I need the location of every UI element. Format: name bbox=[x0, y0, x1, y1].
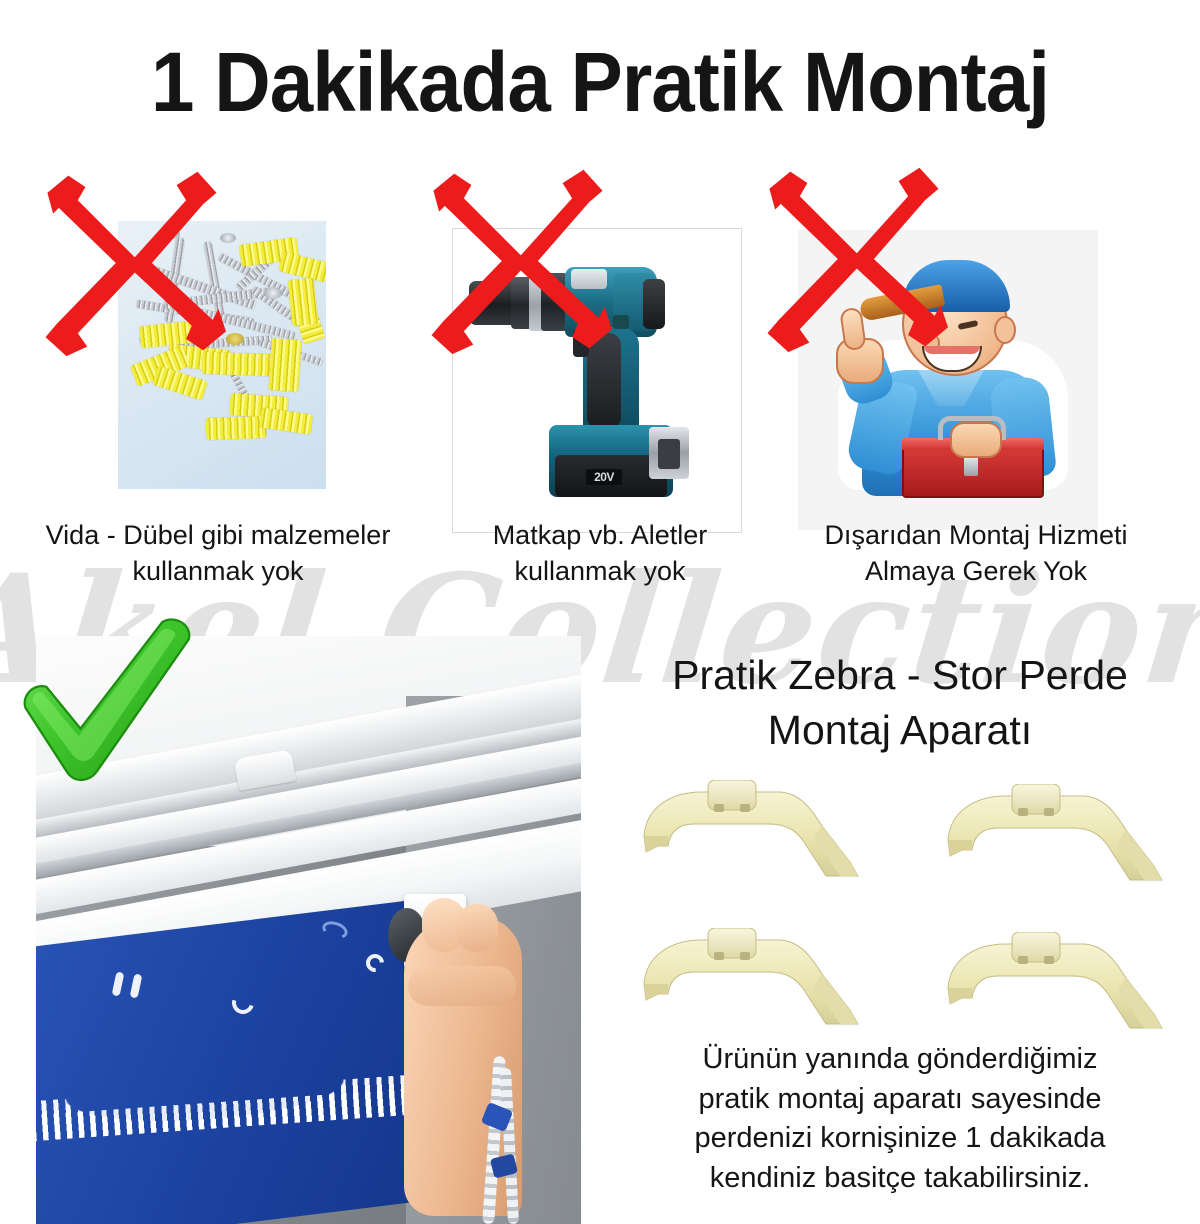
red-x-icon bbox=[36, 168, 226, 358]
red-x-icon bbox=[758, 164, 948, 354]
description-line-1: Ürünün yanında gönderdiğimiz bbox=[703, 1043, 1098, 1075]
page-title: 1 Dakikada Pratik Montaj bbox=[42, 38, 1158, 126]
description-line-4: kendiniz basitçe takabilirsiniz. bbox=[710, 1162, 1090, 1194]
green-check-icon bbox=[14, 618, 204, 786]
description-line-2: pratik montaj aparatı sayesinde bbox=[699, 1083, 1102, 1115]
caption-installer-service: Dışarıdan Montaj Hizmeti Almaya Gerek Yo… bbox=[770, 518, 1182, 589]
caption-line-1: Vida - Dübel gibi malzemeler bbox=[46, 520, 391, 550]
mounting-clip-1 bbox=[636, 780, 866, 885]
drill-battery-voltage-label: 20V bbox=[586, 469, 622, 485]
caption-line-2: kullanmak yok bbox=[132, 556, 303, 586]
product-heading: Pratik Zebra - Stor Perde Montaj Aparatı bbox=[600, 648, 1200, 757]
caption-line-1: Matkap vb. Aletler bbox=[493, 520, 708, 550]
caption-line-2: Almaya Gerek Yok bbox=[865, 556, 1087, 586]
description-line-3: perdenizi kornişinize 1 dakikada bbox=[694, 1122, 1105, 1154]
no-requirements-row: Vida - Dübel gibi malzemeler kullanmak y… bbox=[0, 168, 1200, 588]
product-heading-line-1: Pratik Zebra - Stor Perde bbox=[672, 652, 1128, 698]
caption-line-2: kullanmak yok bbox=[514, 556, 685, 586]
mounting-clip-4 bbox=[940, 932, 1170, 1037]
mounting-clip-2 bbox=[940, 784, 1170, 889]
mounting-clip-3 bbox=[636, 928, 866, 1033]
no-item-installer-service: Dışarıdan Montaj Hizmeti Almaya Gerek Yo… bbox=[770, 168, 1182, 588]
product-info-column: Pratik Zebra - Stor Perde Montaj Aparatı bbox=[600, 640, 1200, 1224]
mounting-clips-grid bbox=[618, 780, 1184, 1035]
caption-line-1: Dışarıdan Montaj Hizmeti bbox=[824, 520, 1127, 550]
product-heading-line-2: Montaj Aparatı bbox=[768, 707, 1032, 753]
caption-screws-dowels: Vida - Dübel gibi malzemeler kullanmak y… bbox=[18, 518, 418, 589]
product-description: Ürünün yanında gönderdiğimiz pratik mont… bbox=[620, 1040, 1180, 1199]
no-item-power-drill: 20V Matkap vb. Aletler kullanmak yok bbox=[430, 168, 770, 588]
no-item-screws-dowels: Vida - Dübel gibi malzemeler kullanmak y… bbox=[18, 168, 418, 588]
red-x-icon bbox=[422, 166, 612, 356]
caption-power-drill: Matkap vb. Aletler kullanmak yok bbox=[430, 518, 770, 589]
